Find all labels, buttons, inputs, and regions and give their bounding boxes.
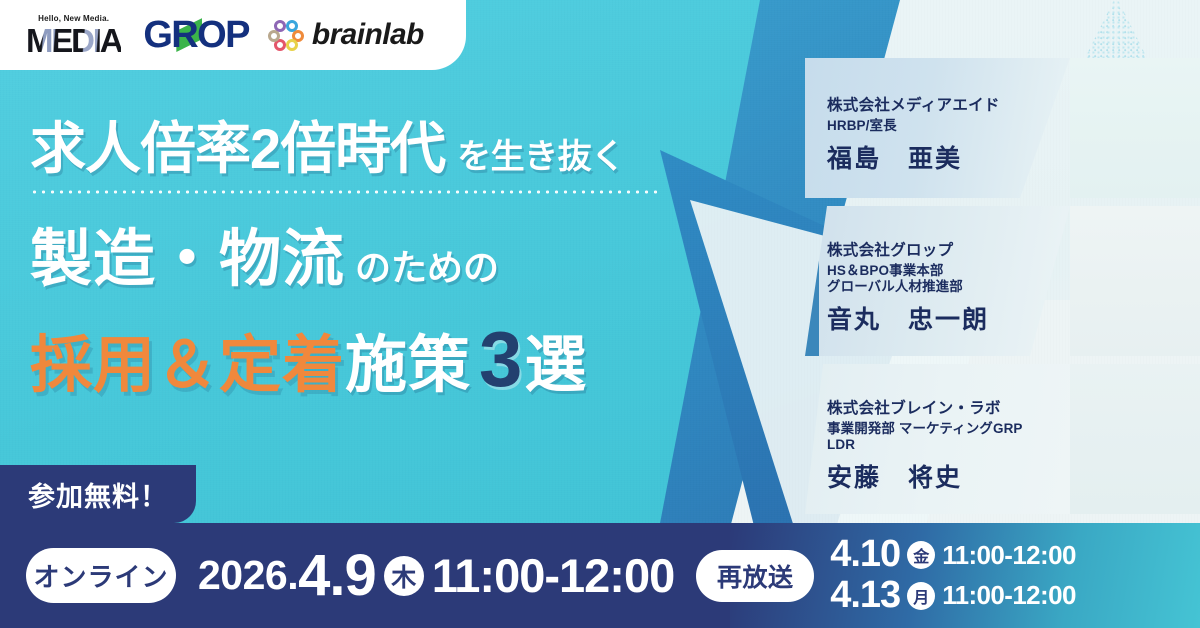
speaker-card-2: 株式会社グロップ HS＆BPO事業本部 グローバル人材推進部 音丸 忠一朗 xyxy=(805,206,1200,356)
rerun-2-day: 4.13 xyxy=(830,576,900,616)
speaker-card-3: 株式会社ブレイン・ラボ 事業開発部 マーケティングGRP LDR 安藤 将史 xyxy=(805,364,1200,514)
speaker-1-name: 福島 亜美 xyxy=(827,139,1062,175)
speaker-2-dept: HS＆BPO事業本部 グローバル人材推進部 xyxy=(827,263,1062,296)
headline-line-1-main: 求人倍率2倍時代 xyxy=(30,104,445,185)
media-logo-word: MEDIA xyxy=(26,24,121,57)
rerun-schedule-row: 4.13 月 11:00-12:00 xyxy=(830,576,1076,616)
speaker-1-info: 株式会社メディアエイド HRBP/室長 福島 亜美 xyxy=(805,58,1070,198)
grop-logo: GROP xyxy=(143,16,249,54)
headline-line-3-number: 3 xyxy=(479,324,522,394)
speaker-3-dept: 事業開発部 マーケティングGRP LDR xyxy=(827,421,1062,454)
headline-line-1-sub: を生き抜く xyxy=(457,129,625,178)
headline-line-3-orange: 採用＆定着 xyxy=(30,314,345,404)
rerun-1-dayofweek: 金 xyxy=(907,541,935,569)
speaker-1-dept: HRBP/室長 xyxy=(827,118,1062,134)
schedule-bar: オンライン 2026. 4.9 木 11:00-12:00 再放送 4.10 金… xyxy=(0,523,1200,628)
speaker-2-accent-bar xyxy=(805,206,819,356)
main-schedule-year: 2026. xyxy=(198,552,298,599)
headline-line-3-white: 施策 xyxy=(345,314,471,404)
free-admission-label: 参加無料！ xyxy=(28,475,168,514)
rerun-1-day: 4.10 xyxy=(830,535,900,575)
main-schedule-time: 11:00-12:00 xyxy=(432,548,674,603)
headline-block: 求人倍率2倍時代 を生き抜く 製造・物流 のための 採用＆定着 施策 3 選 xyxy=(30,104,658,404)
brainlab-logo: brainlab xyxy=(271,18,424,52)
headline-line-3-tail: 選 xyxy=(524,314,586,404)
speaker-2-photo xyxy=(1070,206,1200,356)
speaker-2-info: 株式会社グロップ HS＆BPO事業本部 グローバル人材推進部 音丸 忠一朗 xyxy=(805,206,1070,356)
grop-logo-word: GROP xyxy=(143,14,249,56)
rerun-2-time: 11:00-12:00 xyxy=(942,580,1076,611)
rerun-badge: 再放送 xyxy=(696,550,814,602)
main-schedule-dayofweek: 木 xyxy=(384,556,424,596)
online-badge-label: オンライン xyxy=(33,557,168,594)
media-logo: Hello, New Media. MEDIA xyxy=(26,14,121,57)
headline-line-1: 求人倍率2倍時代 を生き抜く xyxy=(30,104,658,185)
logo-panel: Hello, New Media. MEDIA GROP brainlab xyxy=(0,0,466,70)
speaker-card-1: 株式会社メディアエイド HRBP/室長 福島 亜美 xyxy=(805,58,1200,198)
speaker-1-photo xyxy=(1070,58,1200,198)
speaker-3-name: 安藤 将史 xyxy=(827,458,1062,494)
rerun-1-time: 11:00-12:00 xyxy=(942,540,1076,571)
speaker-1-photo-background xyxy=(1070,58,1200,198)
speaker-3-photo xyxy=(1070,364,1200,514)
rerun-schedule-list: 4.10 金 11:00-12:00 4.13 月 11:00-12:00 xyxy=(830,535,1076,615)
speaker-3-photo-background xyxy=(1070,364,1200,514)
headline-line-2-main: 製造・物流 xyxy=(30,208,345,298)
headline-line-2-sub: のための xyxy=(355,239,499,291)
speaker-3-info: 株式会社ブレイン・ラボ 事業開発部 マーケティングGRP LDR 安藤 将史 xyxy=(805,364,1070,514)
main-schedule: 2026. 4.9 木 11:00-12:00 xyxy=(198,547,674,605)
headline-dotted-underline xyxy=(30,190,658,194)
webinar-banner: Hello, New Media. MEDIA GROP brainlab 求人… xyxy=(0,0,1200,628)
headline-line-2: 製造・物流 のための xyxy=(30,208,658,298)
brainlab-logo-word: brainlab xyxy=(312,18,424,52)
rerun-badge-label: 再放送 xyxy=(717,558,794,594)
schedule-bar-content: オンライン 2026. 4.9 木 11:00-12:00 再放送 4.10 金… xyxy=(0,523,1200,628)
speaker-2-company: 株式会社グロップ xyxy=(827,238,1062,260)
free-admission-badge: 参加無料！ xyxy=(0,465,196,523)
speaker-2-name: 音丸 忠一朗 xyxy=(827,300,1062,336)
speaker-1-company: 株式会社メディアエイド xyxy=(827,93,1062,115)
rerun-2-dayofweek: 月 xyxy=(907,582,935,610)
main-schedule-day: 4.9 xyxy=(298,547,376,605)
speaker-list: 株式会社メディアエイド HRBP/室長 福島 亜美 株式会社グロップ xyxy=(805,58,1200,523)
online-badge: オンライン xyxy=(26,548,176,603)
speaker-2-photo-background xyxy=(1070,206,1200,356)
brainlab-flower-icon xyxy=(271,20,305,50)
rerun-schedule-row: 4.10 金 11:00-12:00 xyxy=(830,535,1076,575)
headline-line-3: 採用＆定着 施策 3 選 xyxy=(30,314,658,404)
speaker-3-company: 株式会社ブレイン・ラボ xyxy=(827,396,1062,418)
